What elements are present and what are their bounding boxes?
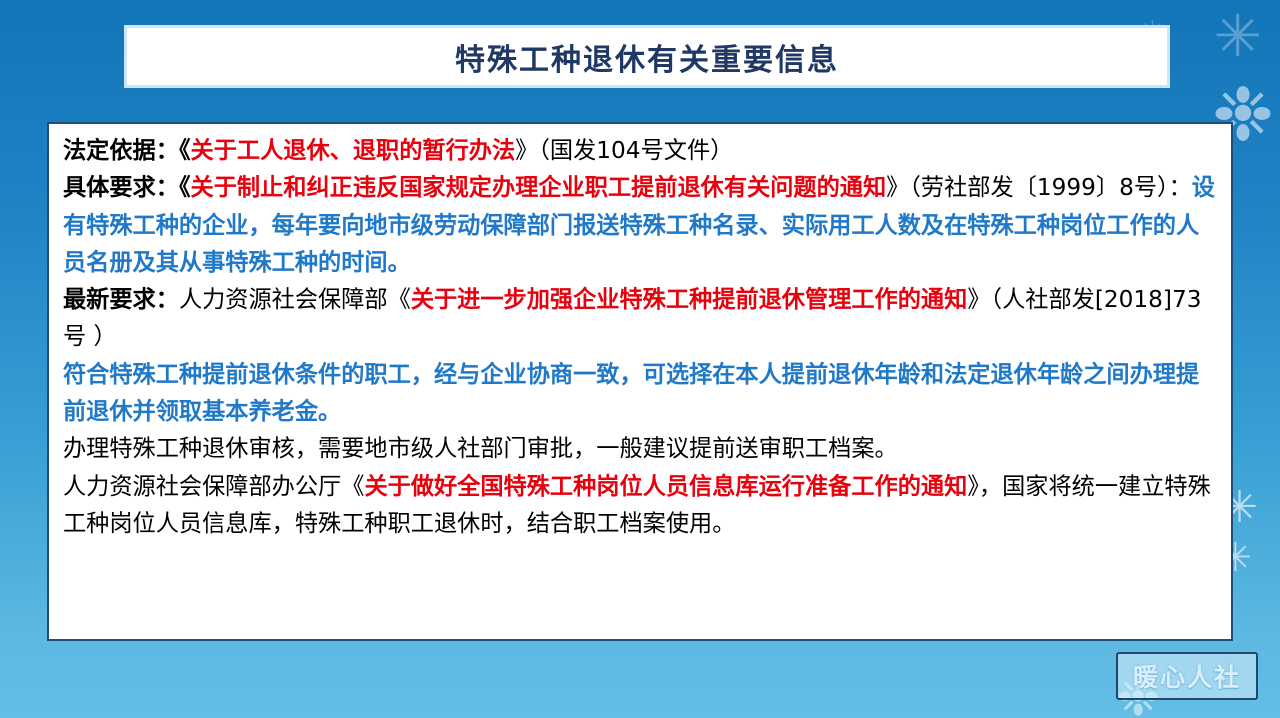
text-run: 具体要求：《 [63,174,191,201]
paragraph-eligibility: 符合特殊工种提前退休条件的职工，经与企业协商一致，可选择在本人提前退休年龄和法定… [63,356,1221,431]
text-run: 》（劳社部发〔1999〕8号）： [886,174,1192,201]
paragraph-approval-process: 办理特殊工种退休审核，需要地市级人社部门审批，一般建议提前送审职工档案。 [63,430,1221,467]
paragraph-legal-basis: 法定依据：《关于工人退休、退职的暂行办法》（国发104号文件） [63,132,1221,169]
paragraph-database-notice: 人力资源社会保障部办公厅《关于做好全国特殊工种岗位人员信息库运行准备工作的通知》… [63,468,1221,543]
text-run: 人力资源社会保障部《 [179,286,411,313]
paragraph-specific-requirements: 具体要求：《关于制止和纠正违反国家规定办理企业职工提前退休有关问题的通知》（劳社… [63,169,1221,281]
text-run: 关于工人退休、退职的暂行办法 [191,137,516,164]
page-title: 特殊工种退休有关重要信息 [455,35,839,79]
text-run: 最新要求： [63,286,179,313]
text-run: 》（国发104号文件） [515,137,733,164]
snowflake-icon: ✳ [1213,8,1262,66]
title-banner: 特殊工种退休有关重要信息 [124,25,1170,88]
paragraph-latest-requirements: 最新要求：人力资源社会保障部《关于进一步加强企业特殊工种提前退休管理工作的通知》… [63,281,1221,356]
content-panel: 法定依据：《关于工人退休、退职的暂行办法》（国发104号文件）具体要求：《关于制… [47,122,1233,641]
text-run: 办理特殊工种退休审核，需要地市级人社部门审批，一般建议提前送审职工档案。 [63,435,898,462]
text-run: 符合特殊工种提前退休条件的职工，经与企业协商一致，可选择在本人提前退休年龄和法定… [63,361,1199,425]
slide-canvas: ✳ ❉ ✳ ✳ ❉ ✳ 特殊工种退休有关重要信息 法定依据：《关于工人退休、退职… [0,0,1280,718]
text-run: 关于制止和纠正违反国家规定办理企业职工提前退休有关问题的通知 [191,174,887,201]
text-run: 关于做好全国特殊工种岗位人员信息库运行准备工作的通知 [364,473,967,500]
watermark-badge: 暖心人社 [1116,652,1258,700]
watermark-label: 暖心人社 [1133,658,1241,694]
text-run: 法定依据：《 [63,137,191,164]
text-run: 关于进一步加强企业特殊工种提前退休管理工作的通知 [411,286,968,313]
text-run: 人力资源社会保障部办公厅《 [63,473,364,500]
content-body: 法定依据：《关于工人退休、退职的暂行办法》（国发104号文件）具体要求：《关于制… [63,132,1221,542]
